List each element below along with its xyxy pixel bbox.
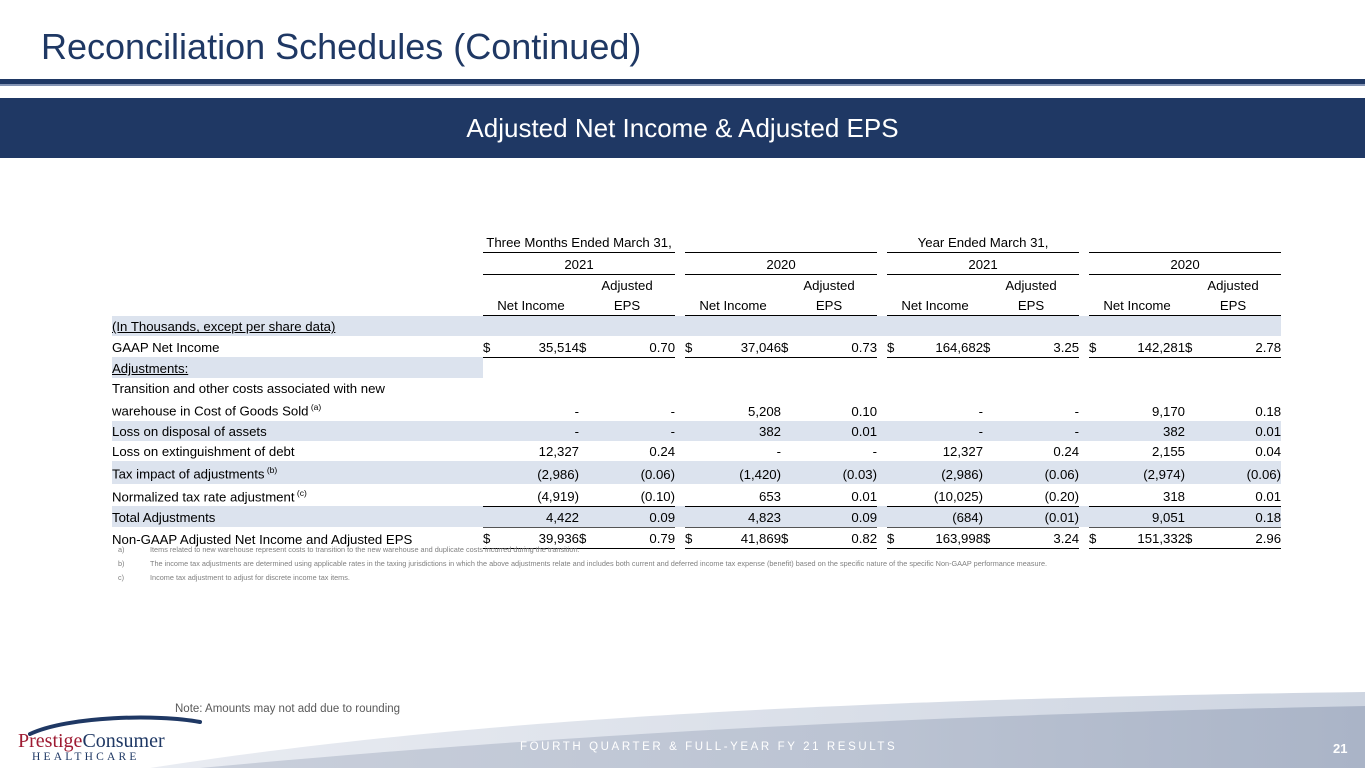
currency-symbol-cell: $ — [483, 336, 501, 357]
data-cell — [1203, 357, 1281, 378]
spacer-cell — [675, 232, 685, 253]
table-row: Total Adjustments4,4220.094,8230.09(684)… — [112, 506, 1281, 527]
currency-symbol-cell — [1185, 421, 1203, 441]
data-cell — [597, 357, 675, 378]
column-gap — [675, 506, 685, 527]
footnote-mark: b) — [118, 557, 150, 571]
currency-symbol-cell — [1185, 357, 1203, 378]
currency-symbol-cell — [1089, 378, 1107, 398]
column-gap — [1079, 336, 1089, 357]
col-header-net-income-1: Net Income — [685, 295, 781, 316]
column-gap — [877, 357, 887, 378]
data-cell: (2,986) — [501, 461, 579, 483]
data-cell: (2,974) — [1107, 461, 1185, 483]
column-gap — [1079, 316, 1089, 337]
col-header-adjusted-2: Adjusted — [983, 274, 1079, 295]
currency-symbol-cell — [781, 461, 799, 483]
currency-symbol-cell — [887, 484, 905, 506]
data-cell: 0.01 — [1203, 421, 1281, 441]
column-gap — [675, 461, 685, 483]
data-cell: 0.73 — [799, 336, 877, 357]
group-header-year: Year Ended March 31, — [887, 232, 1079, 253]
column-gap — [675, 398, 685, 420]
data-cell — [799, 316, 877, 337]
currency-symbol-cell — [579, 421, 597, 441]
currency-symbol-cell — [1185, 506, 1203, 527]
data-cell: - — [597, 398, 675, 420]
logo-word-prestige: Prestige — [18, 730, 82, 752]
currency-symbol-cell — [983, 316, 1001, 337]
spacer-cell — [501, 274, 579, 295]
column-gap — [675, 336, 685, 357]
data-cell: 12,327 — [501, 441, 579, 461]
table-row: Adjustments: — [112, 357, 1281, 378]
data-cell: (0.10) — [597, 484, 675, 506]
currency-symbol-cell — [781, 441, 799, 461]
data-cell — [597, 316, 675, 337]
col-header-adjusted-1: Adjusted — [781, 274, 877, 295]
data-cell: 5,208 — [703, 398, 781, 420]
column-gap — [675, 441, 685, 461]
row-label: Adjustments: — [112, 357, 483, 378]
currency-symbol-cell — [1089, 484, 1107, 506]
spacer-cell — [877, 253, 887, 274]
data-cell: 9,170 — [1107, 398, 1185, 420]
currency-symbol-cell — [1185, 441, 1203, 461]
data-cell: 0.01 — [799, 421, 877, 441]
data-cell: (2,986) — [905, 461, 983, 483]
col-header-net-income-2: Net Income — [887, 295, 983, 316]
column-gap — [877, 506, 887, 527]
currency-symbol-cell: $ — [887, 336, 905, 357]
data-cell: 0.01 — [799, 484, 877, 506]
currency-symbol-cell — [1089, 398, 1107, 420]
spacer-cell — [1079, 253, 1089, 274]
column-gap — [877, 441, 887, 461]
data-cell: 2,155 — [1107, 441, 1185, 461]
data-cell: - — [501, 421, 579, 441]
currency-symbol-cell — [781, 398, 799, 420]
data-cell — [1107, 378, 1185, 398]
table-row: Normalized tax rate adjustment (c)(4,919… — [112, 484, 1281, 506]
column-gap — [675, 316, 685, 337]
data-cell: 9,051 — [1107, 506, 1185, 527]
column-gap — [1079, 421, 1089, 441]
column-gap — [1079, 398, 1089, 420]
column-gap — [1079, 506, 1089, 527]
column-gap — [877, 336, 887, 357]
data-cell — [597, 378, 675, 398]
section-banner: Adjusted Net Income & Adjusted EPS — [0, 98, 1365, 158]
data-cell: - — [905, 421, 983, 441]
spacer-cell — [685, 274, 703, 295]
currency-symbol-cell — [1089, 357, 1107, 378]
spacer-cell — [905, 274, 983, 295]
data-cell: 0.24 — [1001, 441, 1079, 461]
currency-symbol-cell — [983, 398, 1001, 420]
currency-symbol-cell — [1089, 421, 1107, 441]
currency-symbol-cell — [781, 484, 799, 506]
footnote-mark: c) — [118, 571, 150, 585]
data-cell: 4,422 — [501, 506, 579, 527]
currency-symbol-cell — [887, 378, 905, 398]
spacer-cell — [112, 295, 483, 316]
currency-symbol-cell — [1089, 461, 1107, 483]
table-row: Tax impact of adjustments (b)(2,986)(0.0… — [112, 461, 1281, 483]
currency-symbol-cell — [483, 378, 501, 398]
col-header-eps-0: EPS — [579, 295, 675, 316]
footnote-text: The income tax adjustments are determine… — [150, 557, 1298, 571]
currency-symbol-cell — [579, 484, 597, 506]
row-label: warehouse in Cost of Goods Sold (a) — [112, 398, 483, 420]
currency-symbol-cell — [1185, 398, 1203, 420]
data-cell: (0.03) — [799, 461, 877, 483]
data-cell: - — [1001, 421, 1079, 441]
data-cell: 4,823 — [703, 506, 781, 527]
data-cell: (0.06) — [1001, 461, 1079, 483]
currency-symbol-cell — [1185, 316, 1203, 337]
data-cell — [905, 316, 983, 337]
currency-symbol-cell — [685, 506, 703, 527]
column-gap — [675, 484, 685, 506]
reconciliation-table: Three Months Ended March 31, Year Ended … — [112, 232, 1281, 549]
data-cell: 0.09 — [597, 506, 675, 527]
row-label: (In Thousands, except per share data) — [112, 316, 483, 337]
row-label: Tax impact of adjustments (b) — [112, 461, 483, 483]
column-gap — [877, 398, 887, 420]
table-row: (In Thousands, except per share data) — [112, 316, 1281, 337]
footnote-item: b)The income tax adjustments are determi… — [118, 557, 1298, 571]
data-cell — [799, 378, 877, 398]
spacer-cell — [1107, 274, 1185, 295]
footnote-item: c)Income tax adjustment to adjust for di… — [118, 571, 1298, 585]
spacer-cell — [877, 295, 887, 316]
footnote-text: Income tax adjustment to adjust for disc… — [150, 571, 1298, 585]
table-column-header-row-top: Adjusted Adjusted Adjusted Adjusted — [112, 274, 1281, 295]
data-cell: - — [501, 398, 579, 420]
footnote-marker: (c) — [295, 488, 307, 498]
footnote-marker: (b) — [264, 465, 277, 475]
currency-symbol-cell — [887, 506, 905, 527]
currency-symbol-cell: $ — [781, 336, 799, 357]
spacer-cell — [112, 274, 483, 295]
column-gap — [877, 421, 887, 441]
row-label: Loss on extinguishment of debt — [112, 441, 483, 461]
currency-symbol-cell — [983, 484, 1001, 506]
data-cell — [1107, 316, 1185, 337]
spacer-cell — [1079, 274, 1089, 295]
group-header-three-months: Three Months Ended March 31, — [483, 232, 675, 253]
row-label: Loss on disposal of assets — [112, 421, 483, 441]
year-header-3: 2020 — [1089, 253, 1281, 274]
table-group-header-row: Three Months Ended March 31, Year Ended … — [112, 232, 1281, 253]
currency-symbol-cell — [579, 378, 597, 398]
footnotes-block: a)Items related to new warehouse represe… — [118, 543, 1298, 585]
currency-symbol-cell — [579, 398, 597, 420]
currency-symbol-cell: $ — [1089, 336, 1107, 357]
table-column-header-row-bottom: Net Income EPS Net Income EPS Net Income… — [112, 295, 1281, 316]
column-gap — [877, 316, 887, 337]
table-row: Transition and other costs associated wi… — [112, 378, 1281, 398]
data-cell: 3.25 — [1001, 336, 1079, 357]
data-cell: 0.18 — [1203, 506, 1281, 527]
data-cell: 37,046 — [703, 336, 781, 357]
currency-symbol-cell — [483, 441, 501, 461]
spacer-cell — [877, 274, 887, 295]
spacer-cell — [887, 274, 905, 295]
logo-subtitle: HEALTHCARE — [32, 751, 140, 763]
spacer-cell — [675, 253, 685, 274]
currency-symbol-cell — [685, 316, 703, 337]
column-gap — [675, 378, 685, 398]
currency-symbol-cell — [983, 421, 1001, 441]
data-cell — [1107, 357, 1185, 378]
row-label: Transition and other costs associated wi… — [112, 378, 483, 398]
currency-symbol-cell — [983, 461, 1001, 483]
data-cell — [799, 357, 877, 378]
currency-symbol-cell — [579, 506, 597, 527]
currency-symbol-cell — [685, 357, 703, 378]
currency-symbol-cell — [1089, 506, 1107, 527]
currency-symbol-cell: $ — [983, 336, 1001, 357]
currency-symbol-cell — [1185, 484, 1203, 506]
group-header-year-cont — [1089, 232, 1281, 253]
currency-symbol-cell — [887, 357, 905, 378]
currency-symbol-cell — [579, 357, 597, 378]
data-cell: 0.10 — [799, 398, 877, 420]
data-cell: (1,420) — [703, 461, 781, 483]
currency-symbol-cell — [483, 461, 501, 483]
currency-symbol-cell — [887, 461, 905, 483]
data-cell: - — [799, 441, 877, 461]
col-header-adjusted-3: Adjusted — [1185, 274, 1281, 295]
data-cell — [905, 378, 983, 398]
spacer-cell — [877, 232, 887, 253]
column-gap — [1079, 378, 1089, 398]
spacer-cell — [703, 274, 781, 295]
col-header-eps-2: EPS — [983, 295, 1079, 316]
col-header-eps-3: EPS — [1185, 295, 1281, 316]
footer-swoosh-icon — [0, 690, 1365, 768]
currency-symbol-cell — [781, 378, 799, 398]
footer-label: FOURTH QUARTER & FULL-YEAR FY 21 RESULTS — [520, 741, 897, 753]
column-gap — [675, 421, 685, 441]
col-header-net-income-3: Net Income — [1089, 295, 1185, 316]
currency-symbol-cell — [685, 421, 703, 441]
data-cell: 0.24 — [597, 441, 675, 461]
currency-symbol-cell — [983, 506, 1001, 527]
spacer-cell — [675, 274, 685, 295]
currency-symbol-cell — [1185, 461, 1203, 483]
footnote-item: a)Items related to new warehouse represe… — [118, 543, 1298, 557]
currency-symbol-cell — [781, 357, 799, 378]
data-cell: 12,327 — [905, 441, 983, 461]
data-cell: 382 — [1107, 421, 1185, 441]
column-gap — [1079, 484, 1089, 506]
data-cell — [1001, 357, 1079, 378]
currency-symbol-cell — [483, 398, 501, 420]
data-cell: - — [597, 421, 675, 441]
column-gap — [877, 378, 887, 398]
column-gap — [877, 484, 887, 506]
group-header-three-months-cont — [685, 232, 877, 253]
column-gap — [1079, 357, 1089, 378]
currency-symbol-cell — [983, 378, 1001, 398]
page-title: Reconciliation Schedules (Continued) — [41, 26, 641, 68]
data-cell: (0.06) — [1203, 461, 1281, 483]
row-label: GAAP Net Income — [112, 336, 483, 357]
data-cell: 653 — [703, 484, 781, 506]
column-gap — [675, 357, 685, 378]
currency-symbol-cell — [579, 316, 597, 337]
footnote-mark: a) — [118, 543, 150, 557]
currency-symbol-cell: $ — [579, 336, 597, 357]
data-cell — [501, 357, 579, 378]
currency-symbol-cell — [685, 378, 703, 398]
page-number: 21 — [1333, 741, 1347, 756]
currency-symbol-cell: $ — [685, 336, 703, 357]
currency-symbol-cell — [685, 441, 703, 461]
currency-symbol-cell — [685, 461, 703, 483]
data-cell: - — [905, 398, 983, 420]
data-cell — [703, 357, 781, 378]
row-label: Total Adjustments — [112, 506, 483, 527]
data-cell: 0.01 — [1203, 484, 1281, 506]
year-header-2: 2021 — [887, 253, 1079, 274]
currency-symbol-cell — [483, 484, 501, 506]
currency-symbol-cell: $ — [1185, 336, 1203, 357]
currency-symbol-cell — [887, 421, 905, 441]
spacer-cell — [1079, 232, 1089, 253]
spacer-cell — [112, 232, 483, 253]
year-header-0: 2021 — [483, 253, 675, 274]
currency-symbol-cell — [483, 357, 501, 378]
data-cell: 0.09 — [799, 506, 877, 527]
data-cell — [703, 316, 781, 337]
data-cell — [501, 378, 579, 398]
column-gap — [877, 461, 887, 483]
footer-decoration — [0, 690, 1365, 768]
data-cell: 164,682 — [905, 336, 983, 357]
table-row: Loss on disposal of assets--3820.01--382… — [112, 421, 1281, 441]
footnote-text: Items related to new warehouse represent… — [150, 543, 1298, 557]
currency-symbol-cell — [1089, 441, 1107, 461]
currency-symbol-cell — [781, 506, 799, 527]
currency-symbol-cell — [1185, 378, 1203, 398]
row-label: Normalized tax rate adjustment (c) — [112, 484, 483, 506]
section-banner-title: Adjusted Net Income & Adjusted EPS — [466, 113, 898, 144]
data-cell — [1001, 316, 1079, 337]
logo-word-consumer: Consumer — [82, 730, 164, 752]
financial-table-container: Three Months Ended March 31, Year Ended … — [112, 232, 1255, 549]
data-cell — [1203, 316, 1281, 337]
col-header-eps-1: EPS — [781, 295, 877, 316]
currency-symbol-cell — [685, 398, 703, 420]
currency-symbol-cell — [579, 441, 597, 461]
data-cell: (0.06) — [597, 461, 675, 483]
data-cell: 142,281 — [1107, 336, 1185, 357]
data-cell — [703, 378, 781, 398]
table-row: Loss on extinguishment of debt12,3270.24… — [112, 441, 1281, 461]
currency-symbol-cell — [887, 441, 905, 461]
table-body: (In Thousands, except per share data)GAA… — [112, 316, 1281, 549]
data-cell: (0.01) — [1001, 506, 1079, 527]
column-gap — [1079, 441, 1089, 461]
col-header-net-income-0: Net Income — [483, 295, 579, 316]
data-cell: (4,919) — [501, 484, 579, 506]
data-cell: 35,514 — [501, 336, 579, 357]
currency-symbol-cell — [483, 421, 501, 441]
spacer-cell — [1079, 295, 1089, 316]
data-cell: - — [1001, 398, 1079, 420]
data-cell — [501, 316, 579, 337]
data-cell: (10,025) — [905, 484, 983, 506]
data-cell — [1203, 378, 1281, 398]
footnote-marker: (a) — [308, 402, 321, 412]
data-cell: 0.04 — [1203, 441, 1281, 461]
currency-symbol-cell — [983, 357, 1001, 378]
data-cell: 382 — [703, 421, 781, 441]
divider-bar-secondary — [0, 84, 1365, 86]
column-gap — [1079, 461, 1089, 483]
spacer-cell — [483, 274, 501, 295]
spacer-cell — [112, 253, 483, 274]
data-cell: (684) — [905, 506, 983, 527]
data-cell: (0.20) — [1001, 484, 1079, 506]
currency-symbol-cell — [887, 398, 905, 420]
col-header-adjusted-0: Adjusted — [579, 274, 675, 295]
data-cell — [1001, 378, 1079, 398]
currency-symbol-cell — [579, 461, 597, 483]
currency-symbol-cell — [685, 484, 703, 506]
currency-symbol-cell — [781, 421, 799, 441]
spacer-cell — [1089, 274, 1107, 295]
table-row: warehouse in Cost of Goods Sold (a)--5,2… — [112, 398, 1281, 420]
table-year-header-row: 2021 2020 2021 2020 — [112, 253, 1281, 274]
logo-wordmark: PrestigeConsumer — [18, 730, 165, 753]
data-cell — [905, 357, 983, 378]
data-cell: 0.18 — [1203, 398, 1281, 420]
data-cell: 0.70 — [597, 336, 675, 357]
spacer-cell — [675, 295, 685, 316]
currency-symbol-cell — [483, 316, 501, 337]
currency-symbol-cell — [1089, 316, 1107, 337]
company-logo: PrestigeConsumer HEALTHCARE — [18, 718, 193, 762]
year-header-1: 2020 — [685, 253, 877, 274]
currency-symbol-cell — [781, 316, 799, 337]
currency-symbol-cell — [483, 506, 501, 527]
data-cell: 2.78 — [1203, 336, 1281, 357]
data-cell: 318 — [1107, 484, 1185, 506]
table-row: GAAP Net Income$35,514$0.70$37,046$0.73$… — [112, 336, 1281, 357]
data-cell: - — [703, 441, 781, 461]
currency-symbol-cell — [887, 316, 905, 337]
currency-symbol-cell — [983, 441, 1001, 461]
